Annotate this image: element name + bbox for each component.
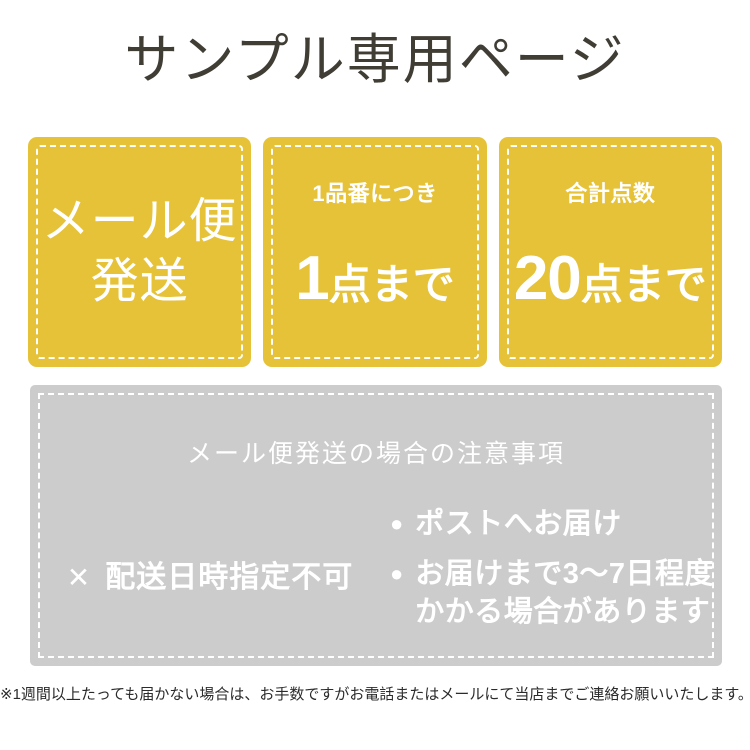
card-per-item-limit-caption: 1品番につき — [263, 180, 486, 208]
card-total-limit-content: 合計点数 20点まで — [499, 180, 722, 324]
info-card-row: メール便 発送 1品番につき 1点まで 合計点数 20点まで — [28, 137, 722, 367]
notice-bullet-line1: ポストへお届け — [415, 508, 622, 540]
notice-bullet-item: ● ポストへお届け — [390, 505, 722, 543]
notice-heading: メール便発送の場合の注意事項 — [30, 438, 722, 470]
card-total-limit: 合計点数 20点まで — [499, 137, 722, 367]
notice-bullet-line1: お届けまで3〜7日程度 — [415, 558, 714, 590]
card-per-item-limit-number: 1 — [295, 244, 328, 313]
notice-panel: メール便発送の場合の注意事項 ✕配送日時指定不可 ● ポストへお届け ● — [30, 385, 722, 666]
card-shipping-method: メール便 発送 — [28, 137, 251, 367]
card-per-item-limit-value: 1点まで — [263, 250, 486, 324]
notice-body: ✕配送日時指定不可 ● ポストへお届け ● お届けまで3〜7日程度 かかる場合が… — [30, 503, 722, 653]
sample-shipping-info-page: サンプル専用ページ メール便 発送 1品番につき 1点まで 合計点数 — [0, 0, 750, 750]
card-total-limit-value: 20点まで — [499, 250, 722, 324]
bullet-dot-icon: ● — [390, 555, 403, 593]
card-shipping-method-line2: 発送 — [28, 252, 251, 312]
card-per-item-limit: 1品番につき 1点まで — [263, 137, 486, 367]
notice-bullet-text: お届けまで3〜7日程度 かかる場合があります — [415, 555, 714, 631]
card-shipping-method-line1: メール便 — [28, 192, 251, 252]
cross-mark-icon: ✕ — [67, 562, 91, 593]
notice-left-column: ✕配送日時指定不可 — [30, 503, 390, 653]
card-total-limit-number: 20 — [514, 244, 581, 313]
notice-no-date-designation-label: 配送日時指定不可 — [105, 561, 353, 594]
card-per-item-limit-unit: 点まで — [329, 261, 455, 308]
bullet-dot-icon: ● — [390, 505, 403, 543]
notice-bullet-text: ポストへお届け — [415, 505, 622, 543]
card-total-limit-caption: 合計点数 — [499, 180, 722, 208]
notice-bullet-item: ● お届けまで3〜7日程度 かかる場合があります — [390, 555, 722, 631]
card-total-limit-unit: 点まで — [581, 261, 707, 308]
page-title: サンプル専用ページ — [0, 28, 750, 92]
card-shipping-method-content: メール便 発送 — [28, 192, 251, 312]
card-per-item-limit-content: 1品番につき 1点まで — [263, 180, 486, 324]
notice-right-column: ● ポストへお届け ● お届けまで3〜7日程度 かかる場合があります — [390, 503, 722, 643]
notice-no-date-designation: ✕配送日時指定不可 — [67, 559, 353, 597]
footer-note: ※1週間以上たっても届かない場合は、お手数ですがお電話またはメールにて当店までご… — [0, 684, 750, 706]
notice-bullet-line2: かかる場合があります — [415, 593, 714, 631]
